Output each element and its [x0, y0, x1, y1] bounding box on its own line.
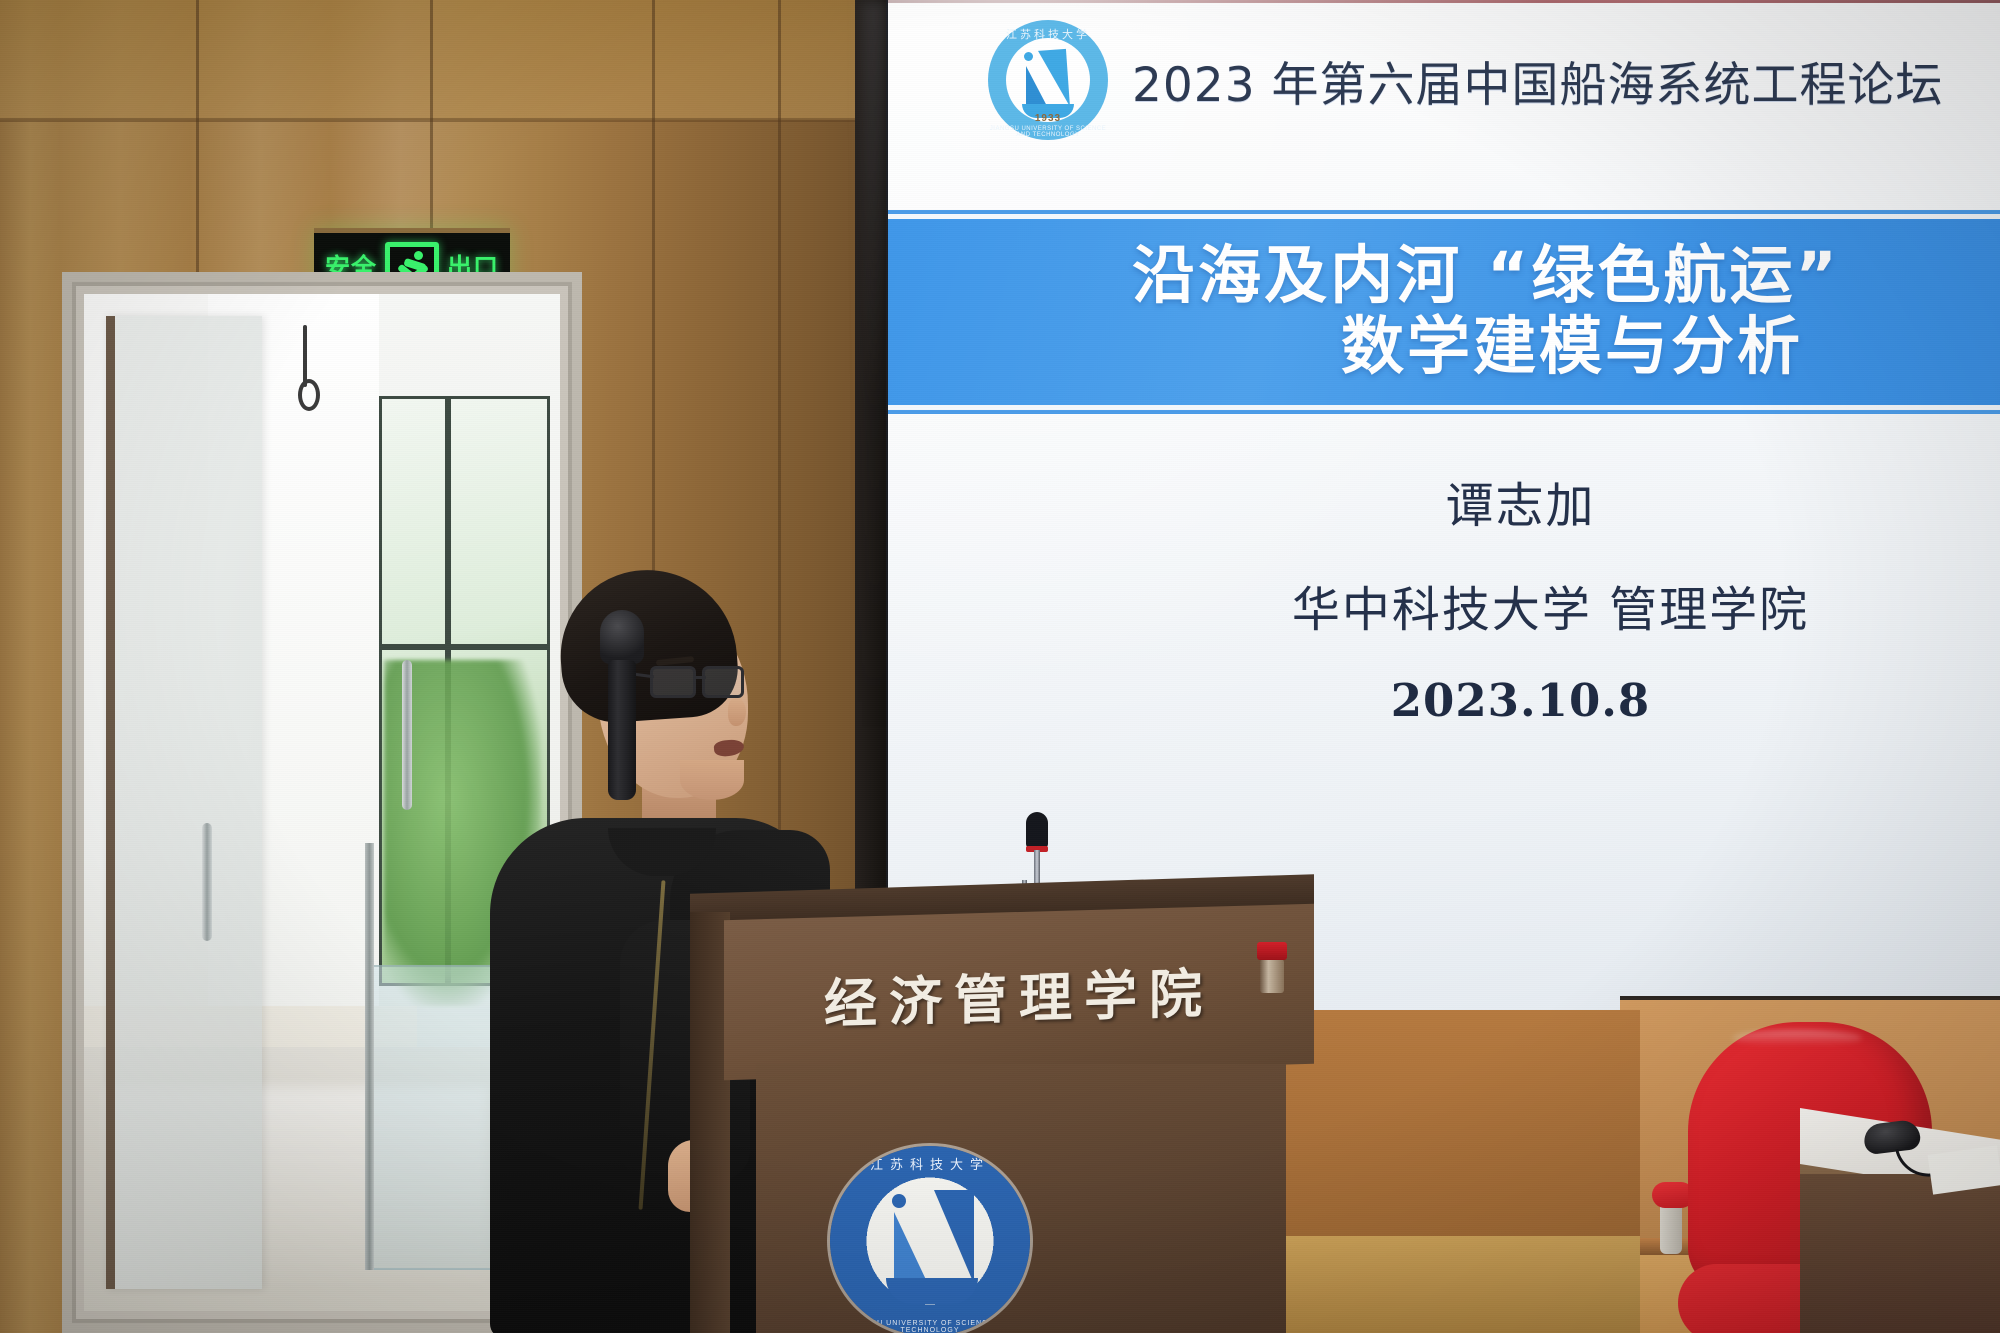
podium-logo-bottom-text: JIANGSU UNIVERSITY OF SCIENCE AND TECHNO…	[830, 1320, 1030, 1333]
eyeglasses	[650, 666, 748, 700]
podium-lower-body	[756, 1064, 1286, 1333]
screen-top-border	[888, 0, 2000, 3]
door-opening	[84, 294, 560, 1311]
slide-title-band: 沿海及内河 “绿色航运” 数学建模与分析	[888, 214, 2000, 410]
bottle-cap	[1257, 942, 1287, 960]
podium-university-logo-icon: 江苏科技大学 JIANGSU UNIVERSITY OF SCIENCE AND…	[830, 1146, 1030, 1333]
handheld-microphone	[600, 610, 644, 800]
door-leaf[interactable]	[106, 316, 262, 1289]
university-logo-icon: 江苏科技大学 1933 JIANGSU UNIVERSITY OF SCIENC…	[988, 20, 1108, 140]
slide-title-line-2: 数学建模与分析	[1341, 312, 1803, 383]
logo-bottom-text: JIANGSU UNIVERSITY OF SCIENCE AND TECHNO…	[988, 126, 1108, 138]
podium-logo-top-text: 江苏科技大学	[830, 1154, 1030, 1173]
glass-door-handle[interactable]	[402, 660, 412, 810]
podium-label: 经济管理学院	[824, 952, 1214, 1039]
slide-header: 江苏科技大学 1933 JIANGSU UNIVERSITY OF SCIENC…	[888, 10, 2000, 150]
pillar-light-reflection	[862, 0, 888, 740]
logo-year: 1933	[988, 113, 1108, 124]
wall-upper-band	[0, 0, 900, 120]
slide-presenter-block: 谭志加 华中科技大学 管理学院 2023.10.8	[888, 466, 2000, 727]
presentation-date: 2023.10.8	[1391, 674, 1651, 727]
presenter-name: 谭志加	[1445, 466, 1595, 536]
lectern-podium: 经济管理学院 江苏科技大学 JIANGSU UNIVERSITY OF SCIE…	[690, 884, 1314, 1333]
glass-post	[365, 843, 374, 1270]
podium-front-panel: 经济管理学院	[724, 904, 1314, 1080]
presentation-photo-scene: 江苏科技大学 1933 JIANGSU UNIVERSITY OF SCIENC…	[0, 0, 2000, 1333]
slide-title-line-1: 沿海及内河 “绿色航运”	[1132, 241, 1840, 312]
speaker-hair	[555, 564, 741, 726]
wall-seam-horizontal	[0, 118, 900, 122]
slide-header-title: 2023 年第六届中国船海系统工程论坛	[1132, 46, 1944, 115]
hanging-cord	[303, 325, 307, 387]
projection-screen: 江苏科技大学 1933 JIANGSU UNIVERSITY OF SCIENC…	[888, 0, 2000, 1011]
presenter-affiliation: 华中科技大学 管理学院	[1292, 570, 1809, 640]
door-handle[interactable]	[202, 823, 212, 941]
water-bottle	[1255, 942, 1289, 992]
